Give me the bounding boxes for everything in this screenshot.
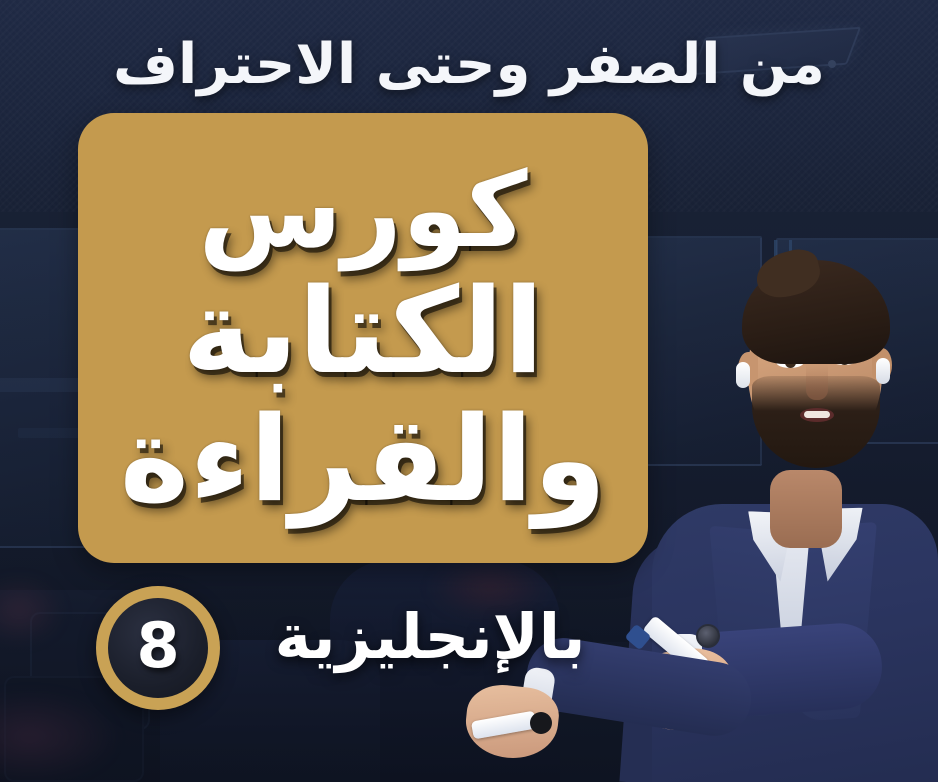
subtitle-text: بالإنجليزية [240,600,620,673]
presenter-neck [770,470,842,548]
wristwatch-icon [696,624,720,648]
marker-cap-icon-right [530,712,552,734]
poster-canvas: من الصفر وحتى الاحتراف كورس الكتابة والق… [0,0,938,782]
earbud-icon-right [876,358,890,384]
headline-line-2: الكتابة [182,271,544,391]
episode-badge-inner: 8 [108,598,208,698]
kicker-text: من الصفر وحتى الاحتراف [0,32,938,97]
presenter-teeth [804,411,830,418]
episode-badge: 8 [96,586,220,710]
headline-line-3: والقراءة [120,399,607,519]
earbud-icon-left [736,362,750,388]
headline-card: كورس الكتابة والقراءة [78,113,648,563]
presenter-nose [806,364,828,400]
headline-line-1: كورس [198,157,527,263]
episode-number: 8 [136,615,179,677]
